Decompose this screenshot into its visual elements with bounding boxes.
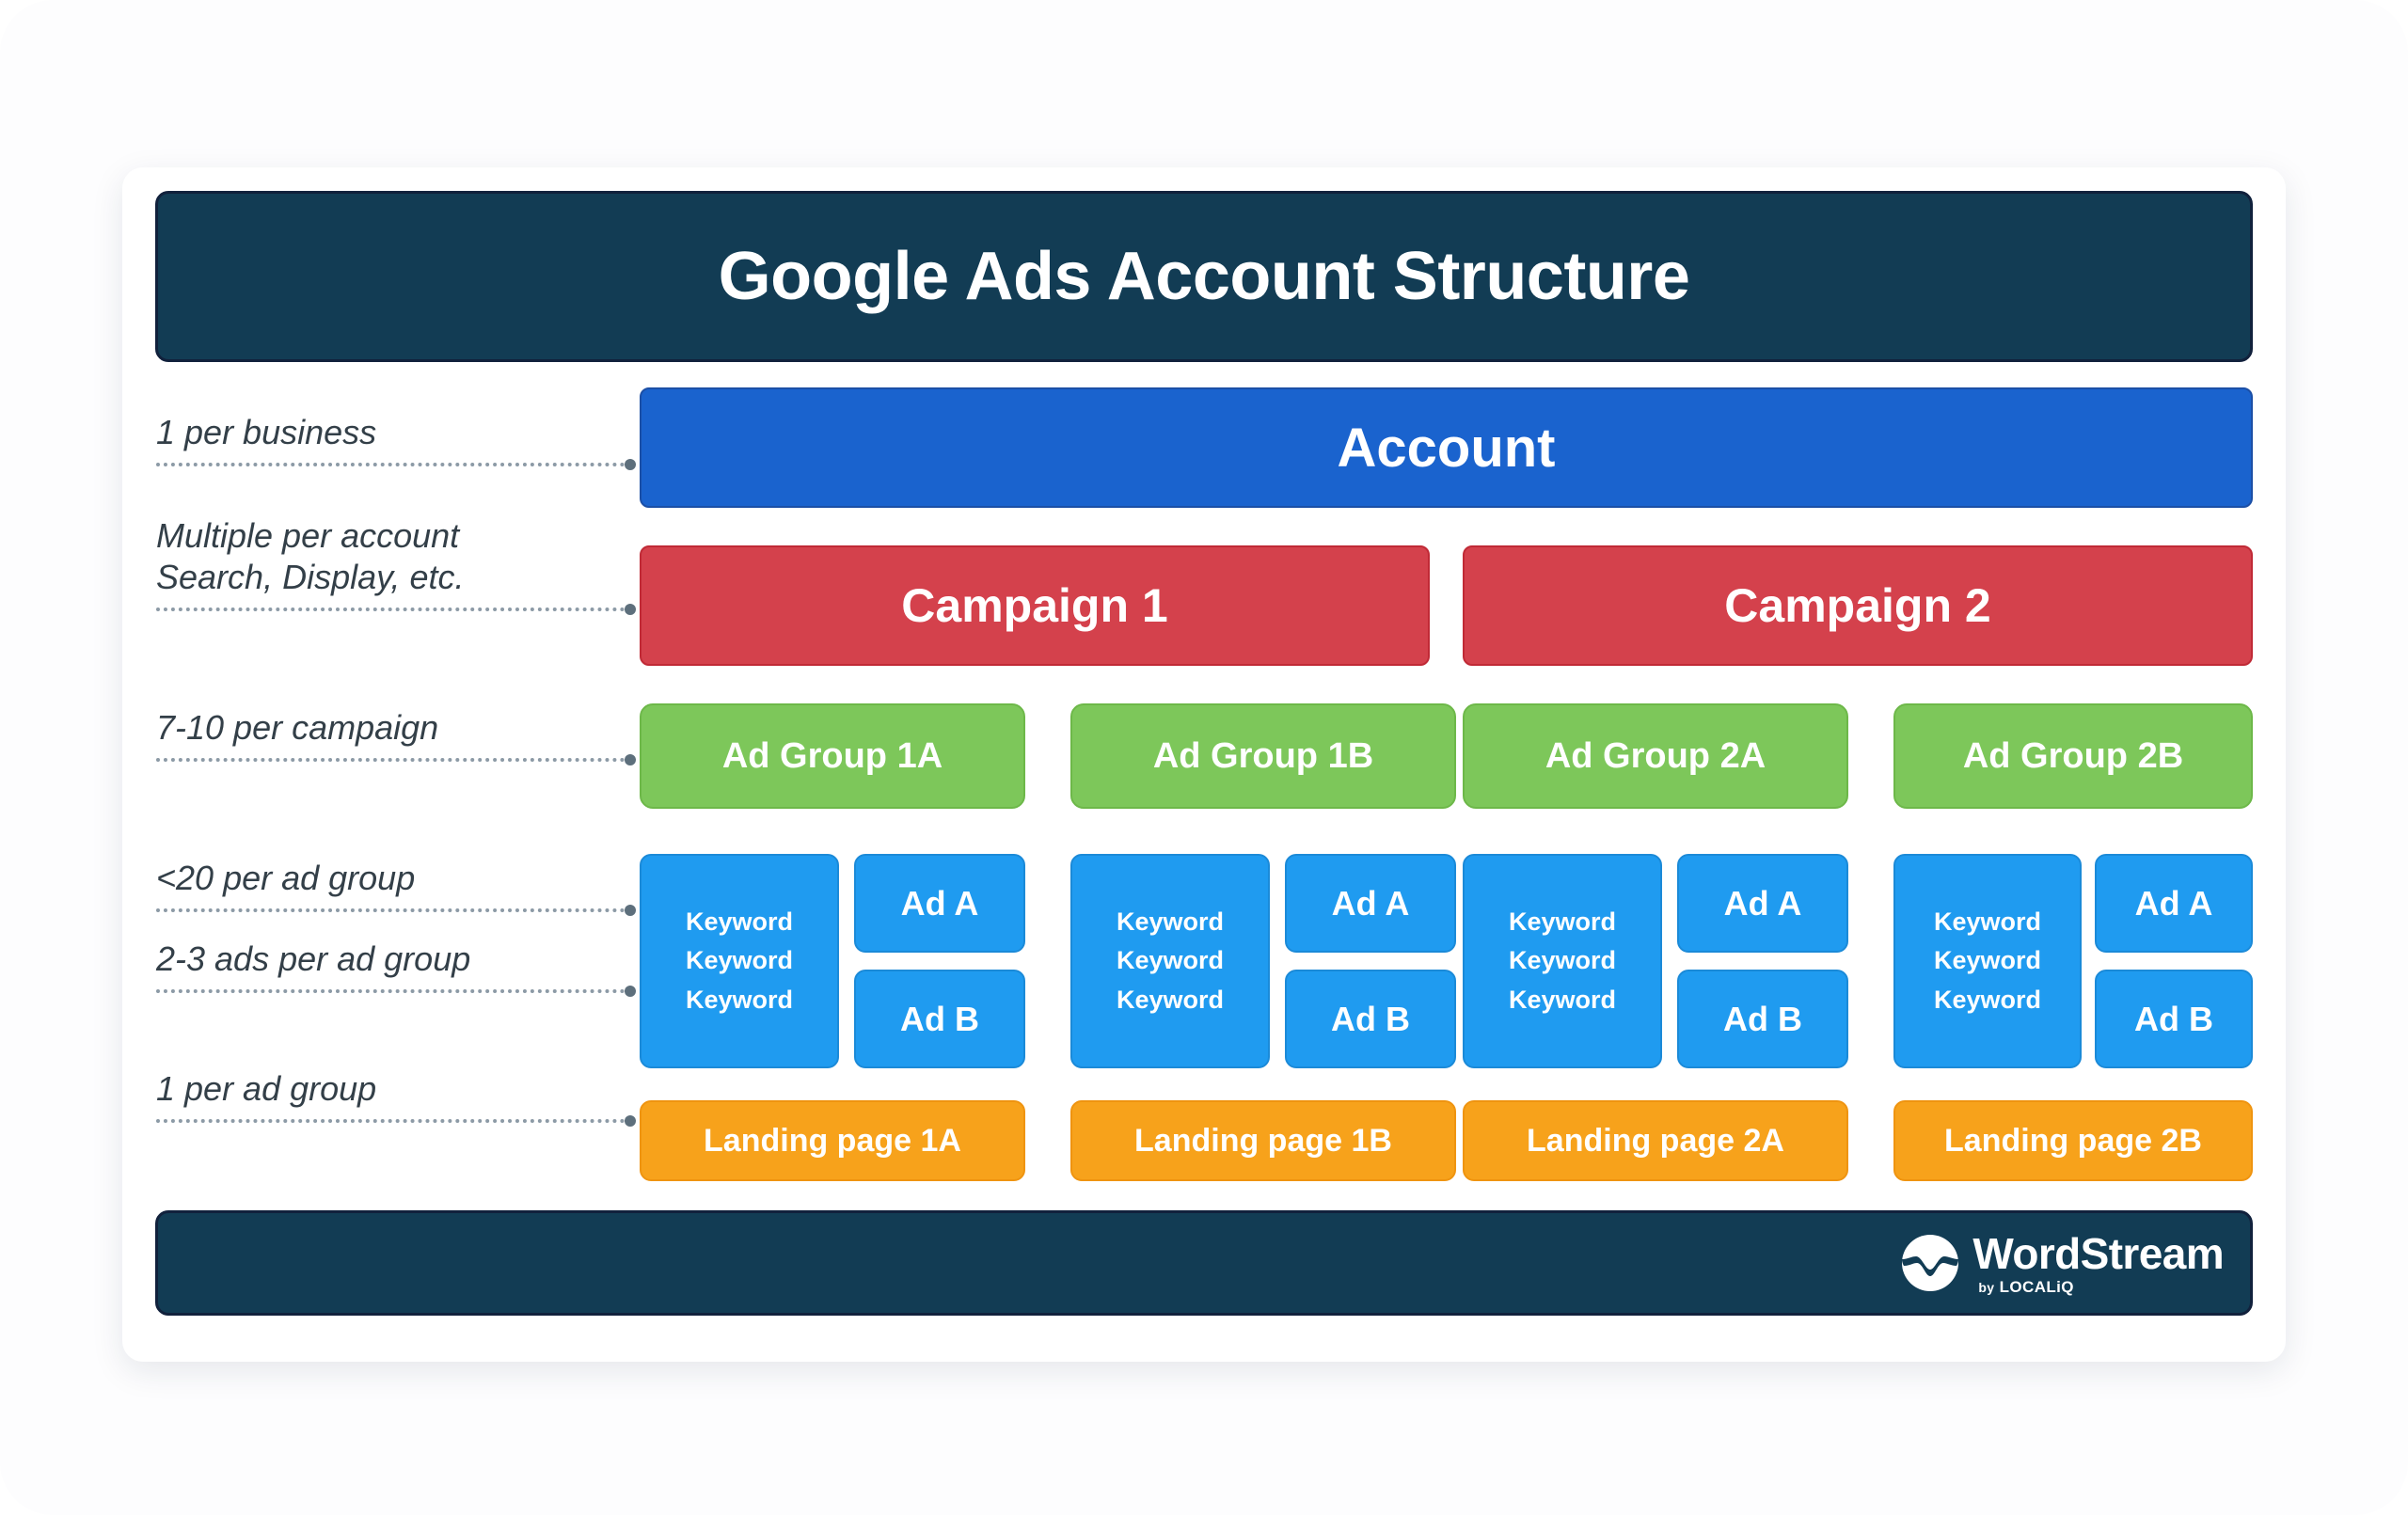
annotation-label: 2-3 ads per ad group xyxy=(156,939,636,980)
annotation-row-campaign: Multiple per account Search, Display, et… xyxy=(156,515,636,613)
annotation-row-account: 1 per business xyxy=(156,412,636,468)
leader-endpoint-dot xyxy=(625,754,636,765)
annotation-row-adgroup: 7-10 per campaign xyxy=(156,707,636,764)
keyword-line: Keyword xyxy=(1509,903,1616,941)
node-ad-group-2a[interactable]: Ad Group 2A xyxy=(1463,703,1848,809)
leader-dots xyxy=(156,908,625,912)
keyword-line: Keyword xyxy=(1934,941,2041,980)
leader-line xyxy=(156,604,636,613)
keyword-line: Keyword xyxy=(1117,981,1224,1019)
leader-line xyxy=(156,459,636,468)
node-keyword-list[interactable]: Keyword Keyword Keyword xyxy=(1070,854,1270,1068)
node-campaign-2[interactable]: Campaign 2 xyxy=(1463,545,2253,666)
ads-column: Ad A Ad B xyxy=(1285,854,1456,1068)
node-ad-b[interactable]: Ad B xyxy=(1677,970,1848,1068)
keyword-line: Keyword xyxy=(686,981,793,1019)
leader-endpoint-dot xyxy=(625,986,636,997)
annotation-label: 1 per business xyxy=(156,412,636,453)
node-account[interactable]: Account xyxy=(640,387,2253,508)
leader-line xyxy=(156,754,636,764)
leader-line xyxy=(156,1115,636,1125)
node-ad-group-1a[interactable]: Ad Group 1A xyxy=(640,703,1025,809)
node-ad-b[interactable]: Ad B xyxy=(854,970,1025,1068)
cluster-ad-group-2b: Keyword Keyword Keyword Ad A Ad B xyxy=(1893,854,2253,1068)
node-ad-a[interactable]: Ad A xyxy=(1677,854,1848,953)
keyword-line: Keyword xyxy=(686,941,793,980)
leader-endpoint-dot xyxy=(625,905,636,916)
node-ad-a[interactable]: Ad A xyxy=(854,854,1025,953)
footer-bar: WordStream by LOCALiQ xyxy=(155,1210,2253,1316)
leader-endpoint-dot xyxy=(625,459,636,470)
node-landing-page-1b[interactable]: Landing page 1B xyxy=(1070,1100,1456,1181)
node-keyword-list[interactable]: Keyword Keyword Keyword xyxy=(1463,854,1662,1068)
leader-dots xyxy=(156,1119,625,1123)
annotation-label: Multiple per account Search, Display, et… xyxy=(156,515,636,598)
annotation-label: 7-10 per campaign xyxy=(156,707,636,749)
node-keyword-list[interactable]: Keyword Keyword Keyword xyxy=(1893,854,2082,1068)
leader-line xyxy=(156,986,636,995)
wordstream-wave-circle-icon xyxy=(1901,1234,1959,1292)
cluster-ad-group-2a: Keyword Keyword Keyword Ad A Ad B xyxy=(1463,854,1848,1068)
keyword-line: Keyword xyxy=(1117,903,1224,941)
keyword-line: Keyword xyxy=(1934,981,2041,1019)
annotation-row-keywords: <20 per ad group xyxy=(156,858,636,914)
annotation-row-landing-page: 1 per ad group xyxy=(156,1068,636,1125)
node-ad-b[interactable]: Ad B xyxy=(2095,970,2253,1068)
ads-column: Ad A Ad B xyxy=(854,854,1025,1068)
node-landing-page-2a[interactable]: Landing page 2A xyxy=(1463,1100,1848,1181)
ads-column: Ad A Ad B xyxy=(2095,854,2253,1068)
node-keyword-list[interactable]: Keyword Keyword Keyword xyxy=(640,854,839,1068)
node-ad-group-2b[interactable]: Ad Group 2B xyxy=(1893,703,2253,809)
wordstream-logo: WordStream by LOCALiQ xyxy=(1901,1232,2224,1295)
cluster-ad-group-1b: Keyword Keyword Keyword Ad A Ad B xyxy=(1070,854,1456,1068)
leader-dots xyxy=(156,989,625,993)
keyword-line: Keyword xyxy=(1509,941,1616,980)
keyword-line: Keyword xyxy=(1934,903,2041,941)
cluster-ad-group-1a: Keyword Keyword Keyword Ad A Ad B xyxy=(640,854,1025,1068)
logo-brand-name: WordStream xyxy=(1972,1232,2224,1275)
leader-dots xyxy=(156,463,625,466)
leader-dots xyxy=(156,758,625,762)
annotation-label: <20 per ad group xyxy=(156,858,636,899)
node-ad-a[interactable]: Ad A xyxy=(1285,854,1456,953)
keyword-line: Keyword xyxy=(686,903,793,941)
node-campaign-1[interactable]: Campaign 1 xyxy=(640,545,1430,666)
logo-parent-name: LOCALiQ xyxy=(2000,1278,2074,1296)
node-landing-page-1a[interactable]: Landing page 1A xyxy=(640,1100,1025,1181)
leader-line xyxy=(156,905,636,914)
annotation-label: 1 per ad group xyxy=(156,1068,636,1110)
annotation-row-ads: 2-3 ads per ad group xyxy=(156,939,636,995)
node-ad-group-1b[interactable]: Ad Group 1B xyxy=(1070,703,1456,809)
keyword-line: Keyword xyxy=(1117,941,1224,980)
leader-endpoint-dot xyxy=(625,604,636,615)
keyword-line: Keyword xyxy=(1509,981,1616,1019)
logo-text: WordStream by LOCALiQ xyxy=(1972,1232,2224,1295)
logo-by-word: by xyxy=(1978,1280,1994,1295)
node-landing-page-2b[interactable]: Landing page 2B xyxy=(1893,1100,2253,1181)
node-ad-b[interactable]: Ad B xyxy=(1285,970,1456,1068)
ads-column: Ad A Ad B xyxy=(1677,854,1848,1068)
leader-endpoint-dot xyxy=(625,1115,636,1127)
leader-dots xyxy=(156,608,625,611)
logo-parent-line: by LOCALiQ xyxy=(1978,1279,2074,1295)
node-ad-a[interactable]: Ad A xyxy=(2095,854,2253,953)
infographic-page: Google Ads Account Structure 1 per busin… xyxy=(0,0,2408,1515)
